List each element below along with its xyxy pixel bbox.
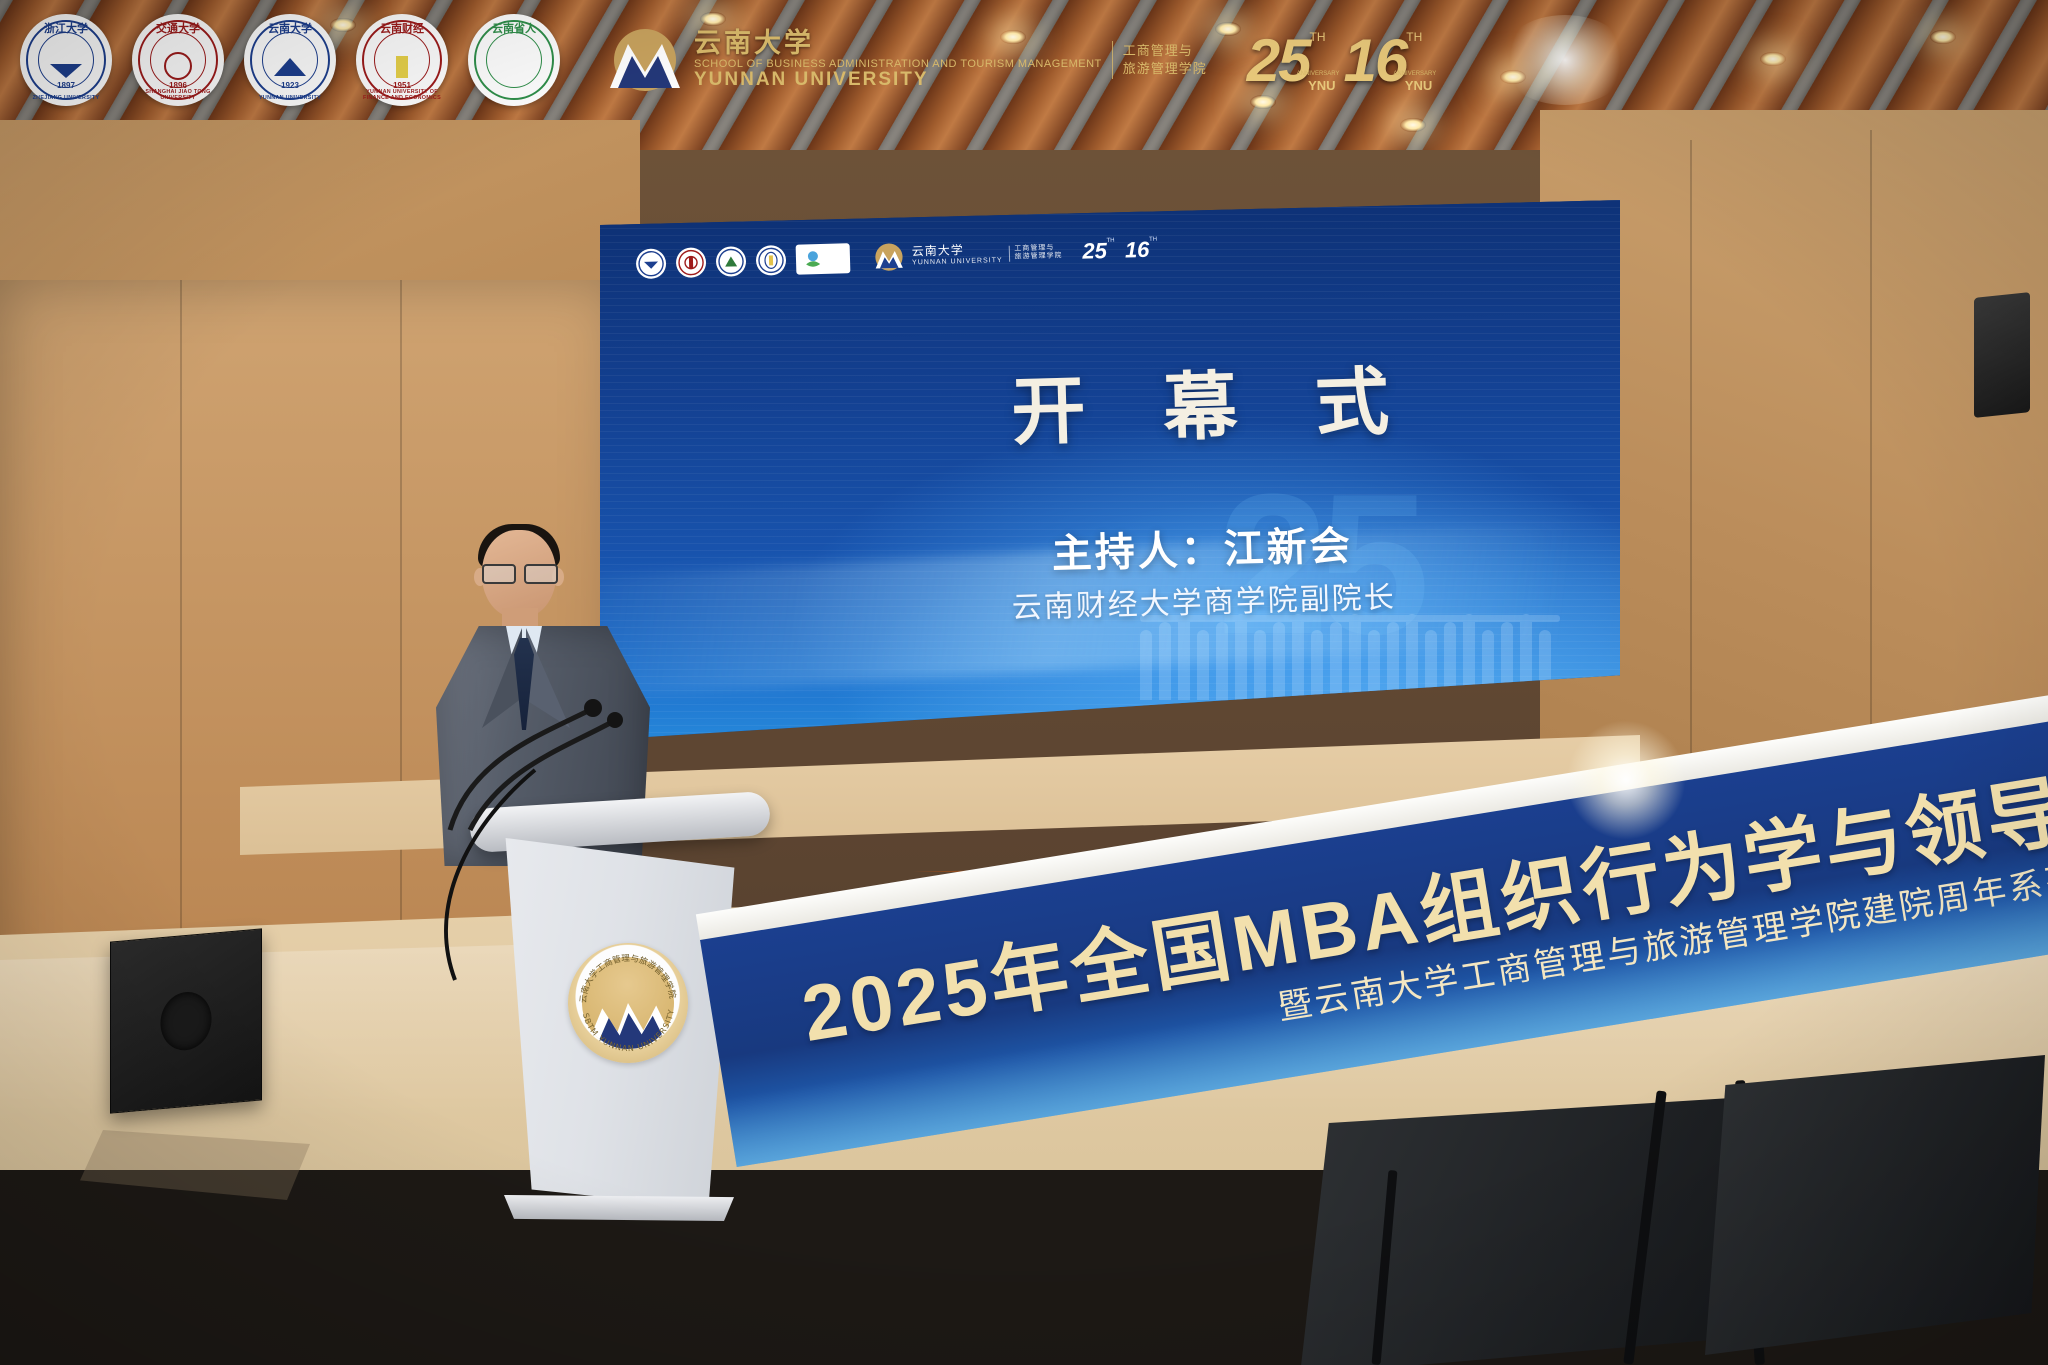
folded-table-secondary xyxy=(1705,1055,2045,1355)
overlay-yunnan-university-of-finance-and-economics-logo: 云南财经1951YUNNAN UNIVERSITY OF FINANCE AND… xyxy=(356,14,448,106)
yunnan-university-mountain-mark xyxy=(606,26,684,94)
lens-flare xyxy=(1500,15,1630,105)
svg-text:SBTM YUNNAN UNIVERSITY: SBTM YUNNAN UNIVERSITY xyxy=(581,1008,678,1056)
overlay-brand-cn: 云南大学 xyxy=(694,29,1102,59)
podium-base xyxy=(494,1195,744,1221)
overlay-anniversary-25: 25THANNIVERSARYYNU xyxy=(1247,26,1310,95)
overlay-yunnan-university-logo: 云南大学1923YUNNAN UNIVERSITY xyxy=(244,14,336,106)
screen-logo-5 xyxy=(796,243,851,274)
screen-brand-en: YUNNAN UNIVERSITY xyxy=(912,257,1003,268)
stage-speaker-left xyxy=(110,928,262,1113)
screen-logo-4 xyxy=(756,245,787,276)
scene-root: 25 xyxy=(0,0,2048,1365)
screen-logo-3 xyxy=(716,246,747,277)
screen-title: 开 幕 式 xyxy=(600,336,1619,471)
overlay-brand-school-1: 工商管理与 xyxy=(1123,42,1207,60)
wall-speaker-icon xyxy=(1974,292,2030,418)
screen-logo-1 xyxy=(636,248,667,279)
microphone-cable xyxy=(415,760,635,990)
overlay-zhejiang-university-logo: 浙江大学1897ZHEJIANG UNIVERSITY xyxy=(20,14,112,106)
overlay-anniversary-16: 16THANNIVERSARYYNU xyxy=(1344,26,1407,95)
screen-anniversary-25: 25 xyxy=(1082,238,1107,265)
overlay-yunnan-brand: 云南大学SCHOOL OF BUSINESS ADMINISTRATION AN… xyxy=(606,26,1207,94)
screen-logo-row: 云南大学 YUNNAN UNIVERSITY 工商管理与 旅游管理学院 25TH… xyxy=(636,235,1158,280)
overlay-anniversary-group: 25THANNIVERSARYYNU16THANNIVERSARYYNU xyxy=(1247,26,1407,95)
screen-logo-2 xyxy=(676,247,707,278)
screen-anniversary-marks: 25TH 16TH xyxy=(1082,237,1158,265)
led-screen: 25 xyxy=(600,200,1620,740)
glasses-icon xyxy=(482,564,558,580)
overlay-school-of-tourism-logo: 云南省人 xyxy=(468,14,560,106)
stage-light-bloom xyxy=(1566,720,1686,840)
screen-yunnan-brand: 云南大学 YUNNAN UNIVERSITY 工商管理与 旅游管理学院 25TH… xyxy=(872,235,1158,273)
screen-anniversary-16: 16 xyxy=(1125,237,1150,264)
overlay-brand-school-2: 旅游管理学院 xyxy=(1123,60,1207,78)
overlay-logo-strip: 浙江大学1897ZHEJIANG UNIVERSITY交通大学1896SHANG… xyxy=(0,0,2048,120)
screen-brand-school-2: 旅游管理学院 xyxy=(1014,252,1062,261)
overlay-brand-en: YUNNAN UNIVERSITY xyxy=(694,70,1102,91)
overlay-shanghai-jiao-tong-university-logo: 交通大学1896SHANGHAI JIAO TONG UNIVERSITY xyxy=(132,14,224,106)
